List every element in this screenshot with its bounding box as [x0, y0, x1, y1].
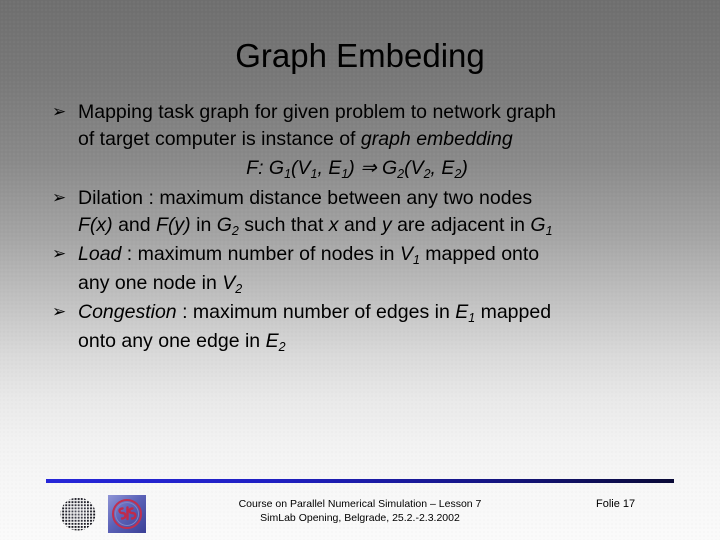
- page-title: Graph Embeding: [0, 36, 720, 76]
- load-colon: :: [121, 243, 137, 265]
- formula-lhs-v: V: [298, 157, 311, 179]
- load-v2-sub: 2: [235, 282, 242, 296]
- bullet-load-line2: any one node in V2: [78, 270, 698, 299]
- formula-lhs-comma: ,: [317, 157, 328, 179]
- mapping-line2-head: of target computer is instance of: [78, 128, 361, 150]
- load-v1: V: [400, 243, 413, 265]
- bullet-congestion-line1: Congestion : maximum number of edges in …: [78, 299, 698, 328]
- congestion-e2: E: [266, 330, 279, 352]
- dilation-in: in: [191, 214, 217, 236]
- dilation-term: Dilation: [78, 187, 143, 209]
- formula-rhs-graph: G: [382, 157, 397, 179]
- dilation-g2-sub: 2: [232, 224, 239, 238]
- formula-lhs-paren-close: ): [348, 157, 355, 179]
- congestion-colon: :: [177, 301, 193, 323]
- dilation-adjacent: are adjacent in: [392, 214, 531, 236]
- slide-number: Folie 17: [596, 497, 696, 511]
- congestion-line1-tail: mapped: [475, 301, 551, 323]
- dilation-g1-sub: 1: [546, 224, 553, 238]
- formula-rhs-v: V: [411, 157, 424, 179]
- dilation-and2: and: [339, 214, 382, 236]
- bullet-item-load: ➢ Load : maximum number of nodes in V1 m…: [52, 241, 698, 299]
- mapping-line2-emphasis: graph embedding: [361, 128, 513, 150]
- dilation-g1: G: [530, 214, 545, 236]
- footer-line-1: Course on Parallel Numerical Simulation …: [160, 497, 560, 511]
- sphere-mesh-logo: [56, 495, 100, 533]
- dilation-fx: F(x): [78, 214, 113, 236]
- bullet-congestion-text: Congestion : maximum number of edges in …: [78, 299, 698, 357]
- formula-rhs-v-sub: 2: [424, 167, 431, 181]
- bullet-mapping-text: Mapping task graph for given problem to …: [78, 99, 698, 153]
- load-line2-head: any one node in: [78, 272, 222, 294]
- slide-canvas: Graph Embeding ➢ Mapping task graph for …: [0, 0, 720, 540]
- formula-lhs-e: E: [328, 157, 341, 179]
- footer-divider: [46, 479, 674, 483]
- bullet-arrow-icon: ➢: [52, 99, 78, 125]
- formula-rhs-e: E: [441, 157, 454, 179]
- bullet-item-congestion: ➢ Congestion : maximum number of edges i…: [52, 299, 698, 357]
- formula-rhs-comma: ,: [431, 157, 442, 179]
- bullet-dilation-line1: Dilation : maximum distance between any …: [78, 185, 698, 212]
- bullet-dilation-text: Dilation : maximum distance between any …: [78, 185, 698, 212]
- dilation-colon: :: [143, 187, 159, 209]
- formula-function: F:: [246, 157, 263, 179]
- bullet-item-mapping: ➢ Mapping task graph for given problem t…: [52, 99, 698, 153]
- formula-rhs-graph-sub: 2: [397, 167, 404, 181]
- bullet-mapping-line2: of target computer is instance of graph …: [78, 126, 698, 153]
- bullet-load-line1: Load : maximum number of nodes in V1 map…: [78, 241, 698, 270]
- bullet-arrow-icon: ➢: [52, 241, 78, 267]
- congestion-line1-rest: maximum number of edges in: [193, 301, 455, 323]
- formula-lhs-e-sub: 1: [341, 167, 348, 181]
- congestion-e1: E: [455, 301, 468, 323]
- congestion-e2-sub: 2: [279, 340, 286, 354]
- bullet-dilation-line2: F(x) and F(y) in G2 such that x and y ar…: [52, 212, 698, 241]
- dilation-x: x: [329, 214, 339, 236]
- bullet-load-text: Load : maximum number of nodes in V1 map…: [78, 241, 698, 299]
- dilation-line1-rest: maximum distance between any two nodes: [159, 187, 532, 209]
- formula-lhs-graph-sub: 1: [284, 167, 291, 181]
- bullet-mapping-line1: Mapping task graph for given problem to …: [78, 99, 698, 126]
- congestion-line2-head: onto any one edge in: [78, 330, 266, 352]
- bullet-arrow-icon: ➢: [52, 185, 78, 211]
- bullet-arrow-icon: ➢: [52, 299, 78, 325]
- formula-rhs-paren-close: ): [461, 157, 468, 179]
- formula-rhs: G2(V2, E2): [382, 157, 468, 179]
- load-v2: V: [222, 272, 235, 294]
- load-v1-sub: 1: [413, 253, 420, 267]
- footer-line-2: SimLab Opening, Belgrade, 25.2.-2.3.2002: [160, 511, 560, 525]
- bullet-item-dilation: ➢ Dilation : maximum distance between an…: [52, 185, 698, 212]
- load-term: Load: [78, 243, 121, 265]
- congestion-term: Congestion: [78, 301, 177, 323]
- formula-rhs-e-sub: 2: [454, 167, 461, 181]
- slide-body: ➢ Mapping task graph for given problem t…: [52, 99, 698, 357]
- dilation-g2: G: [217, 214, 232, 236]
- formula-lhs-graph: G: [269, 157, 284, 179]
- dilation-fy: F(y): [156, 214, 191, 236]
- dilation-and: and: [113, 214, 156, 236]
- dilation-y: y: [382, 214, 392, 236]
- congestion-e1-sub: 1: [468, 311, 475, 325]
- bullet-congestion-line2: onto any one edge in E2: [78, 328, 698, 357]
- dilation-such-that: such that: [239, 214, 329, 236]
- embedding-formula: F: G1(V1, E1) ⇒ G2(V2, E2): [52, 153, 698, 185]
- load-line1-tail: mapped onto: [420, 243, 539, 265]
- load-line1-rest: maximum number of nodes in: [138, 243, 400, 265]
- formula-arrow-icon: ⇒: [360, 157, 376, 179]
- formula-lhs: G1(V1, E1): [269, 157, 360, 179]
- formula-lhs-v-sub: 1: [311, 167, 318, 181]
- sgs-emblem-logo: [108, 495, 146, 533]
- footer-course-info: Course on Parallel Numerical Simulation …: [160, 497, 560, 525]
